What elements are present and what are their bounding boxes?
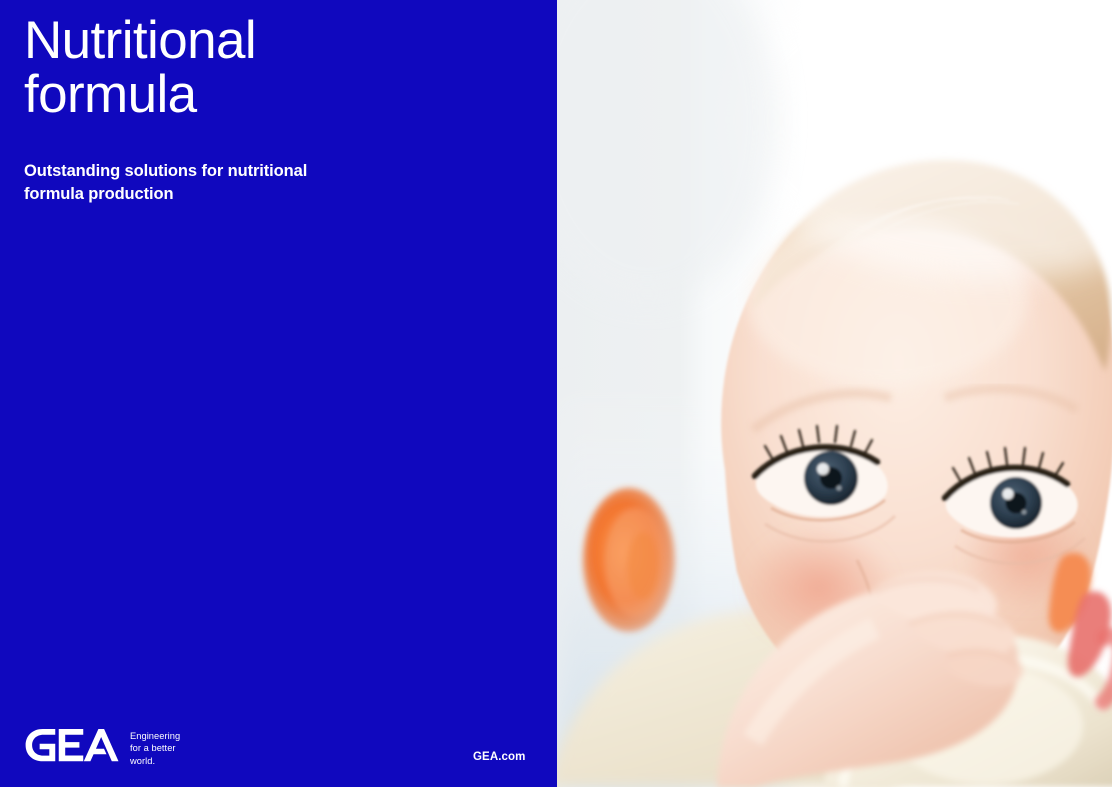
page-subtitle: Outstanding solutions for nutritional fo… <box>24 160 374 206</box>
cover-photo <box>557 0 1112 787</box>
gea-logo-icon <box>24 729 120 767</box>
page-title: Nutritional formula <box>24 14 524 122</box>
title-block: Nutritional formula <box>24 14 524 122</box>
cover-blue-panel: Nutritional formula Outstanding solution… <box>0 0 557 787</box>
brochure-cover-page: Nutritional formula Outstanding solution… <box>0 0 1112 787</box>
site-url-link[interactable]: GEA.com <box>473 751 525 763</box>
gea-logo-claim: Engineering for a better world. <box>130 730 180 768</box>
gea-logo-lockup[interactable]: Engineering for a better world. <box>24 729 180 768</box>
